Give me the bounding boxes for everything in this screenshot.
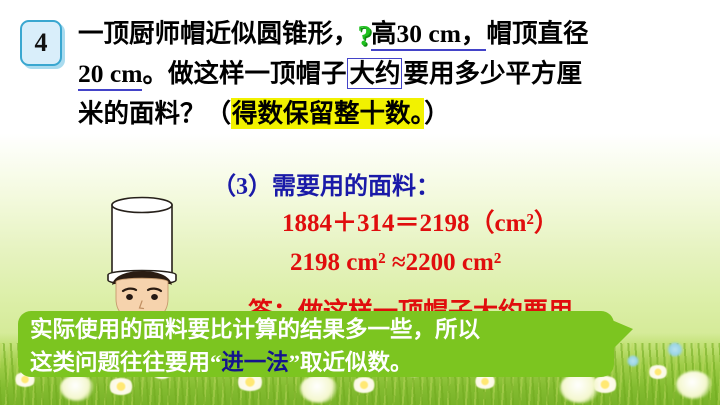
step-heading: （3）需要用的面料： — [212, 166, 440, 201]
chef-eye-left — [126, 294, 133, 300]
problem-statement: 一顶厨师帽近似圆锥形，?高30 cm，帽顶直径 20 cm。做这样一顶帽子大约要… — [78, 14, 710, 134]
problem-highlight-note: 得数保留整十数。 — [231, 98, 424, 129]
problem-measure-diameter: 20 cm — [78, 59, 142, 91]
tip-callout-text: 实际使用的面料要比计算的结果多一些，所以 这类问题往往要用“进一法”取近似数。 — [30, 313, 616, 379]
chef-hat-top-ellipse — [112, 198, 172, 213]
slide-canvas: 4 一顶厨师帽近似圆锥形，?高30 cm，帽顶直径 20 cm。做这样一顶帽子大… — [0, 0, 720, 405]
problem-line-3: 米的面料？（得数保留整十数。） — [78, 94, 710, 134]
problem-measure-height: 高30 cm， — [371, 19, 486, 51]
calculation-line-rounded: 2198 cm² ≈2200 cm² — [290, 249, 501, 277]
problem-text-part: 米的面料？（ — [78, 99, 231, 128]
tip-text-part: ”取近似数。 — [289, 350, 413, 375]
tip-line-2: 这类问题往往要用“进一法”取近似数。 — [30, 346, 616, 379]
chef-illustration — [82, 183, 202, 323]
problem-text-part: ） — [424, 99, 450, 128]
calculation-line-sum: 1884＋314＝2198（cm²） — [282, 203, 559, 239]
daisy-flower — [108, 378, 134, 395]
problem-line-2: 20 cm。做这样一顶帽子大约要用多少平方厘 — [78, 54, 710, 94]
problem-keyword-box: 大约 — [347, 58, 402, 89]
question-number-badge: 4 — [20, 20, 62, 66]
daisy-flower — [648, 365, 668, 379]
chef-eye-right — [151, 294, 158, 300]
problem-text-part: 帽顶直径 — [486, 19, 588, 48]
problem-text-part: 。做这样一顶帽子 — [142, 59, 346, 88]
problem-text-part: 一顶厨师帽近似圆锥形， — [78, 19, 359, 48]
daisy-flower — [352, 377, 376, 393]
blossom-cluster — [676, 371, 712, 399]
tip-text-part: 这类问题往往要用“ — [30, 350, 221, 375]
blue-flower — [626, 355, 640, 367]
problem-text-part: 要用多少平方厘 — [403, 59, 582, 88]
tip-line-1: 实际使用的面料要比计算的结果多一些，所以 — [30, 313, 616, 346]
problem-line-1: 一顶厨师帽近似圆锥形，?高30 cm，帽顶直径 — [78, 14, 710, 54]
tip-key-term: 进一法 — [221, 350, 289, 375]
blue-flower — [666, 342, 684, 357]
blossom-cluster — [300, 375, 338, 403]
